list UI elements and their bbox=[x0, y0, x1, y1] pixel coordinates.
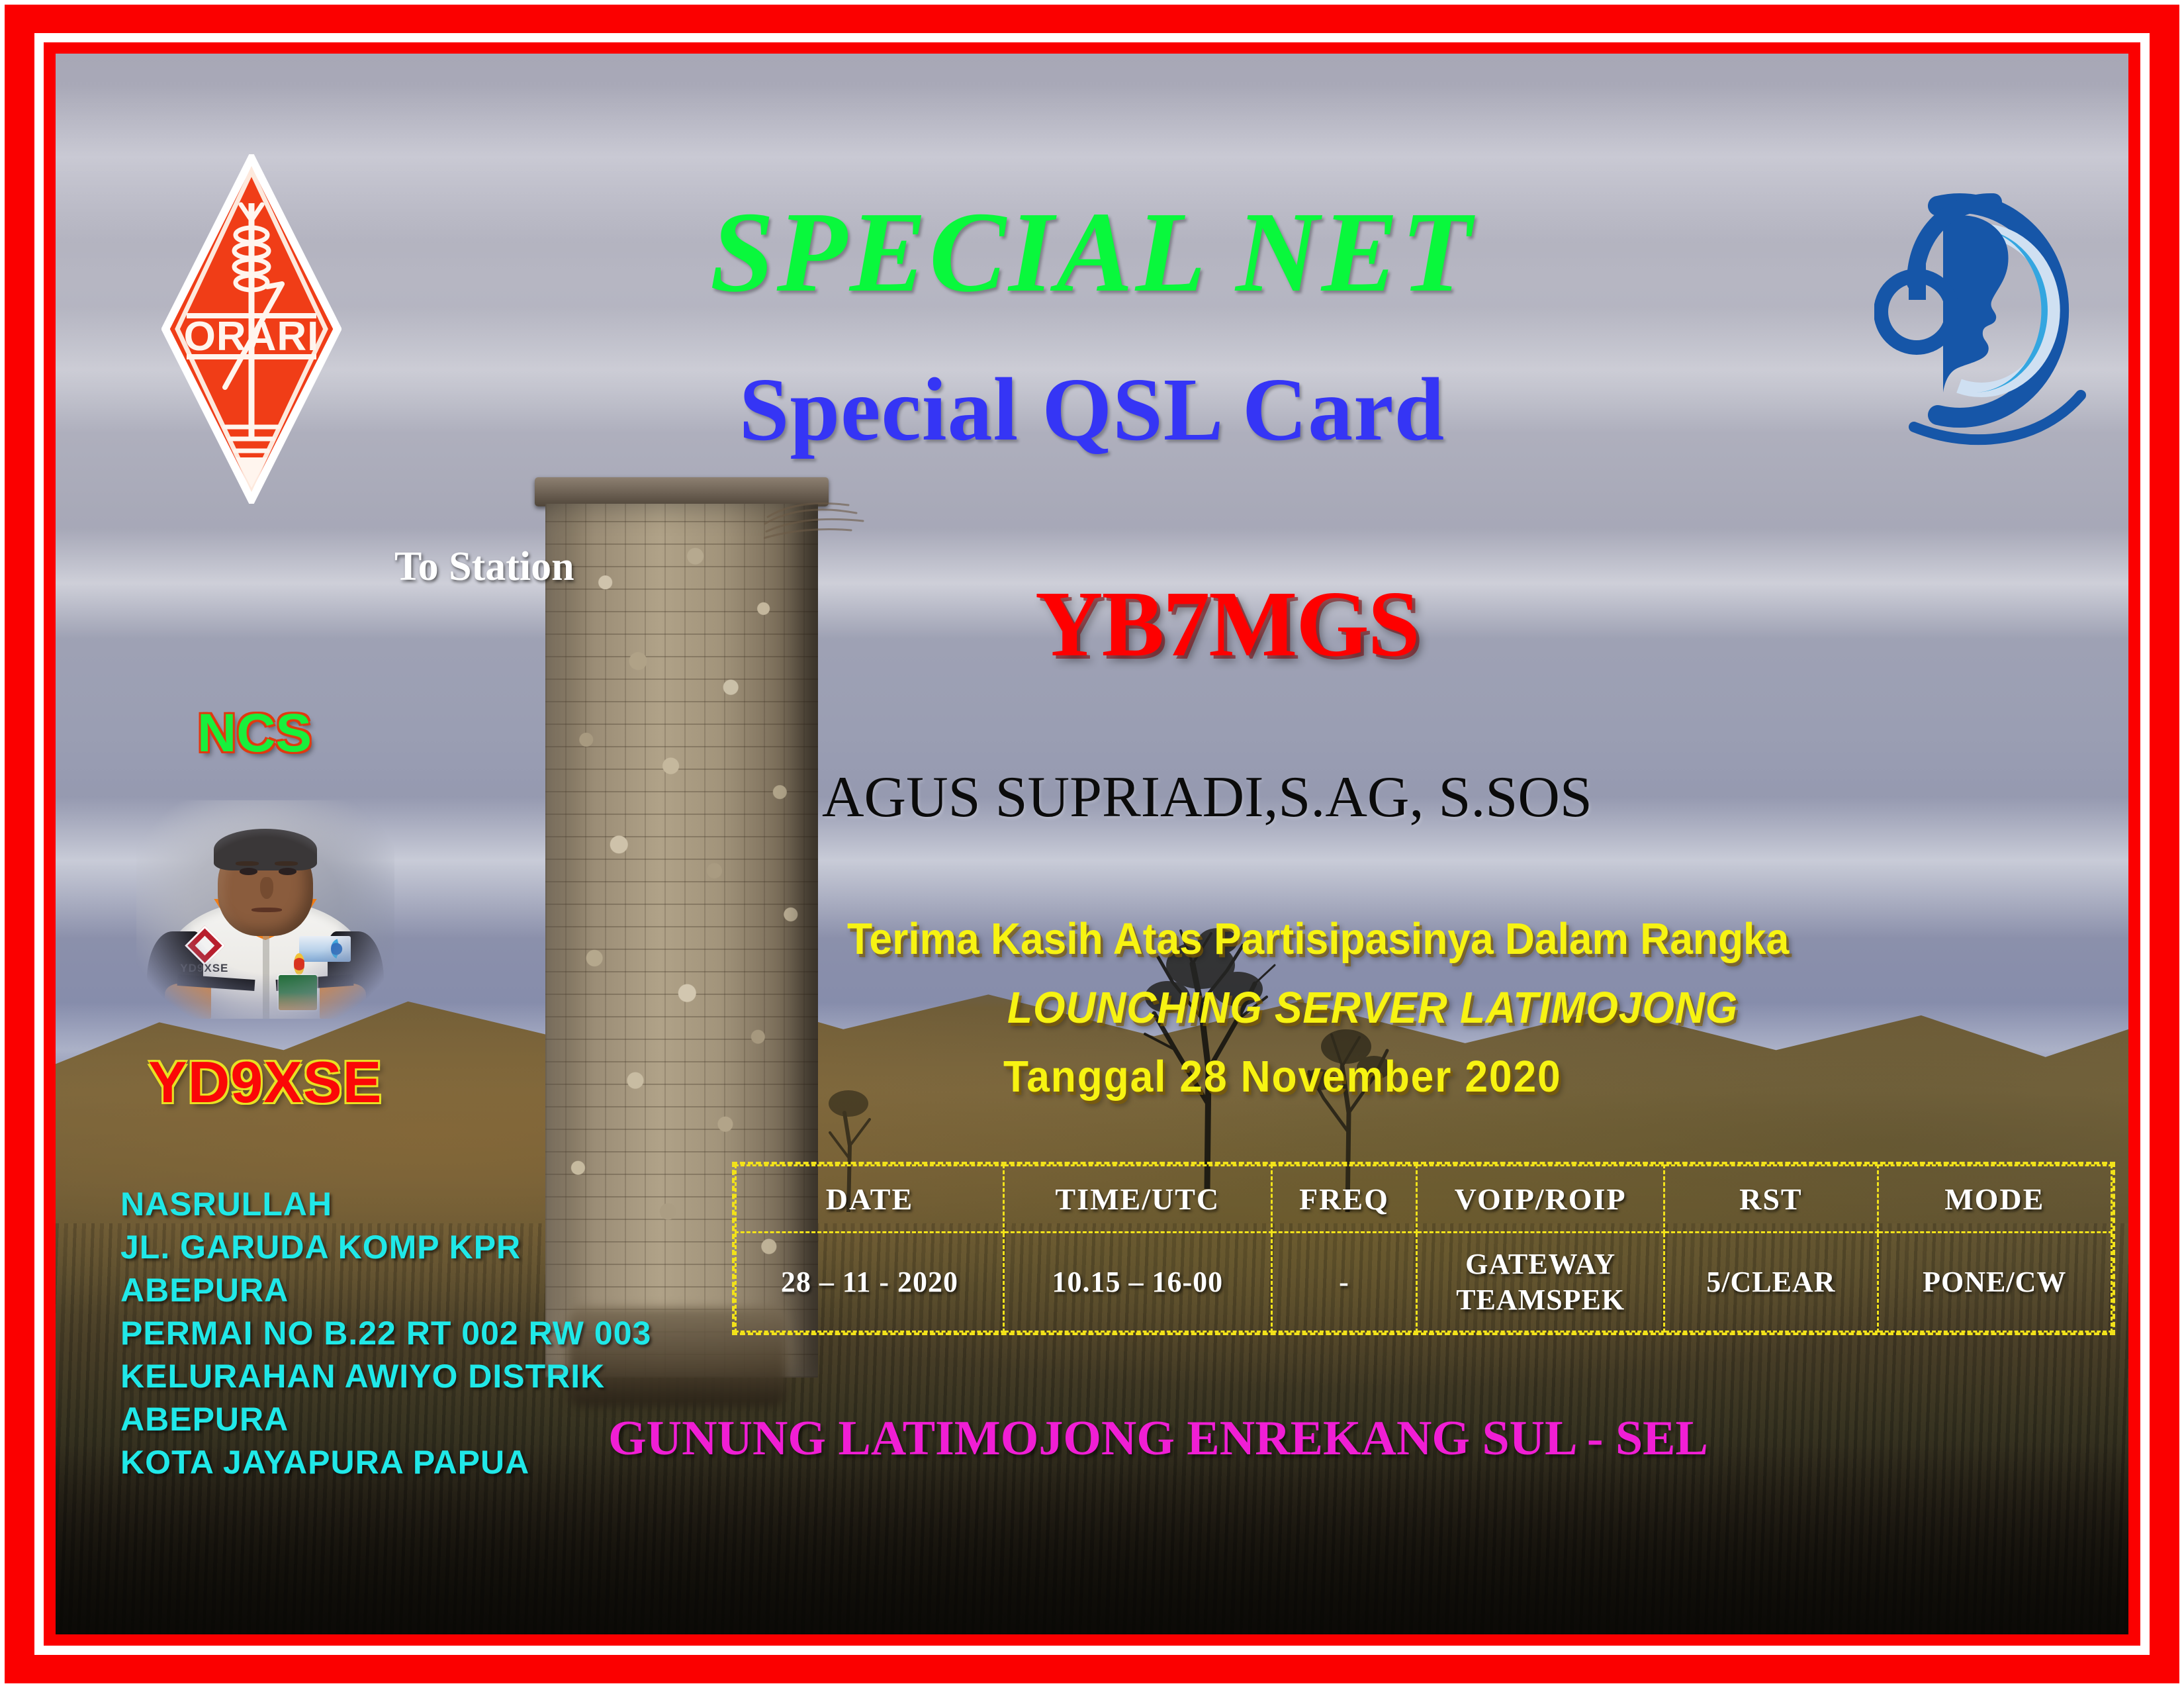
column-header-rst: RST bbox=[1664, 1166, 1878, 1233]
ncs-callsign: YD9XSE bbox=[148, 1053, 382, 1111]
column-header-date: DATE bbox=[736, 1166, 1004, 1233]
column-header-freq: FREQ bbox=[1271, 1166, 1416, 1233]
eyebrow-right bbox=[275, 861, 298, 866]
qso-log-table: DATE TIME/UTC FREQ VOIP/ROIP RST MODE 28… bbox=[732, 1162, 2115, 1335]
cell-voip-line2: TEAMSPEK bbox=[1418, 1282, 1663, 1318]
eyebrow-left bbox=[236, 861, 259, 866]
to-station-label: To Station bbox=[394, 546, 574, 587]
uniform-callsign-label: YD9XSE bbox=[180, 962, 228, 975]
cell-freq: - bbox=[1271, 1233, 1416, 1332]
page-title: SPECIAL NET bbox=[56, 195, 2128, 310]
column-header-voip: VOIP/ROIP bbox=[1417, 1166, 1664, 1233]
web-address: Address : amatir.latimojong.com bbox=[1333, 1632, 2019, 1634]
cell-mode: PONE/CW bbox=[1878, 1233, 2111, 1332]
callsign: YB7MGS bbox=[1035, 577, 1419, 671]
event-date: Tanggal 28 November 2020 bbox=[1003, 1055, 1561, 1099]
address-line: PERMAI NO B.22 RT 002 RW 003 bbox=[120, 1312, 670, 1355]
lanyard-clip-icon bbox=[294, 953, 304, 975]
cell-time: 10.15 – 16-00 bbox=[1003, 1233, 1271, 1332]
uniform-orange-left bbox=[165, 984, 211, 1019]
ncs-label: NCS bbox=[197, 706, 312, 761]
column-header-mode: MODE bbox=[1878, 1166, 2111, 1233]
club-patch-icon bbox=[299, 936, 351, 962]
event-name: LOUNCHING SERVER LATIMOJONG bbox=[1007, 986, 1738, 1030]
mouth bbox=[251, 908, 283, 912]
cell-date: 28 – 11 - 2020 bbox=[736, 1233, 1004, 1332]
background-photo-scene: YD9XSE bbox=[56, 54, 2128, 1634]
page-subtitle: Special QSL Card bbox=[56, 365, 2128, 455]
cell-voip: GATEWAY TEAMSPEK bbox=[1417, 1233, 1664, 1332]
eye-right bbox=[279, 868, 296, 875]
eye-left bbox=[240, 868, 257, 875]
location-line: GUNUNG LATIMOJONG ENREKANG SUL - SEL bbox=[56, 1414, 2128, 1463]
address-line: NASRULLAH bbox=[120, 1183, 670, 1226]
uniform-orange-right bbox=[320, 984, 366, 1019]
thanks-line-1: Terima Kasih Atas Partisipasinya Dalam R… bbox=[847, 917, 1789, 961]
address-line: JL. GARUDA KOMP KPR bbox=[120, 1226, 670, 1269]
cell-rst: 5/CLEAR bbox=[1664, 1233, 1878, 1332]
operator-name: AGUS SUPRIADI,S.AG, S.SOS bbox=[822, 769, 1592, 827]
pillar-wisp bbox=[764, 497, 889, 550]
nose bbox=[260, 877, 273, 899]
operator-photo: YD9XSE bbox=[136, 800, 394, 1019]
hair bbox=[214, 829, 317, 870]
svg-text:ORARI: ORARI bbox=[184, 314, 320, 359]
table-header-row: DATE TIME/UTC FREQ VOIP/ROIP RST MODE bbox=[736, 1166, 2112, 1233]
table-row: 28 – 11 - 2020 10.15 – 16-00 - GATEWAY T… bbox=[736, 1233, 2112, 1332]
column-header-time: TIME/UTC bbox=[1003, 1166, 1271, 1233]
address-line: ABEPURA bbox=[120, 1269, 670, 1312]
cell-voip-line1: GATEWAY bbox=[1418, 1246, 1663, 1282]
address-line: KELURAHAN AWIYO DISTRIK bbox=[120, 1355, 670, 1398]
id-card bbox=[279, 975, 318, 1010]
qsl-card: YD9XSE bbox=[0, 0, 2184, 1688]
